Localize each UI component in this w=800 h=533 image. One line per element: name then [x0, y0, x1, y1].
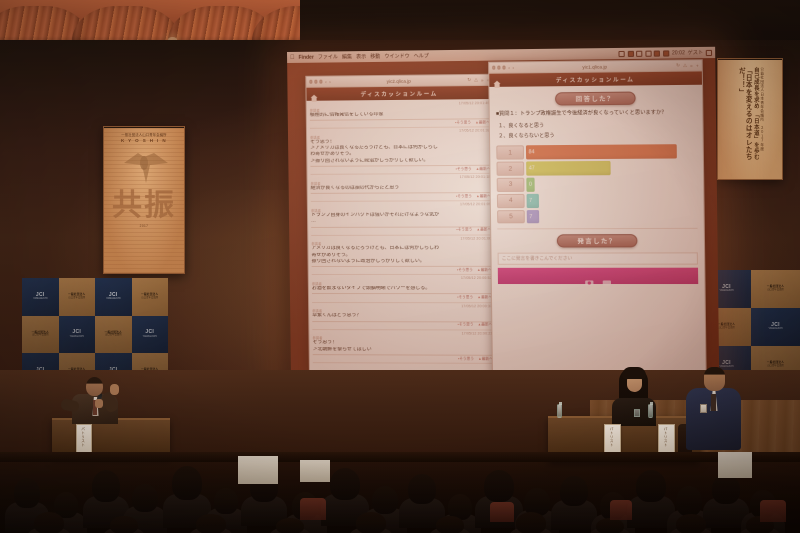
water-bottle — [557, 404, 562, 418]
audience-member-head — [408, 474, 436, 504]
audience-member-head — [712, 474, 740, 504]
menubar-item-go[interactable]: 移動 — [370, 53, 380, 60]
poll-bar-fill: 0 — [526, 178, 535, 192]
post-line: 経済が良くなるのは孭の代からだと思う — [311, 185, 491, 192]
tabs-icon[interactable]: » — [481, 77, 484, 82]
dropbox-icon[interactable] — [619, 50, 625, 56]
battery-icon[interactable] — [654, 50, 660, 56]
panelist-man-badge — [700, 404, 707, 413]
agree-button[interactable]: ▪そう思う — [457, 295, 473, 300]
poll-bar-row[interactable]: 247 — [496, 161, 696, 176]
audience-member-head — [92, 470, 120, 502]
projection-screen:  Finder ファイル 編集 表示 移動 ウインドウ ヘルプ 20:02 ゲ… — [287, 47, 719, 388]
browser-window-poll[interactable]: ‹› yic1.qlica.jp ↻ △ » + ディスカッションルーム — [488, 59, 707, 376]
poll-bar-track: 47 — [526, 161, 697, 176]
post-body: そう思う！＞アメリカは良くなるだろうけども、日本には何かしらしわ寄せがありそう。… — [310, 138, 490, 166]
eagle-emblem — [116, 149, 172, 189]
agree-button[interactable]: ▪そう思う — [455, 120, 471, 125]
post-body: 経済が良くなるのは孭の代からだと思う — [311, 185, 491, 194]
banner-left-top-line: 一般社団法人山口青年会議所 — [121, 132, 166, 137]
home-icon[interactable] — [309, 89, 318, 98]
audience-member-head — [330, 468, 360, 500]
agree-icon: ▪ — [456, 194, 457, 198]
discussion-post[interactable]: 17/05/12 20:00:21参講者そう思う！＞北朝鮮を黎らせてほしい▪そう… — [312, 331, 492, 364]
discussion-post[interactable]: 17/05/12 20:01:00参講者アメリカは良くなるだろうけども、日本には… — [311, 236, 491, 275]
post-actions: ▪そう思う▲最新へ — [311, 194, 491, 200]
poll-bar-label[interactable]: 5 — [497, 210, 525, 224]
poll-bar-track: 7 — [527, 209, 698, 223]
tabs-icon[interactable]: » — [690, 63, 693, 68]
latest-button[interactable]: ▲最新へ — [476, 194, 491, 199]
home-icon[interactable] — [492, 75, 501, 84]
banner-right: 公益社団法人日本青年会議所 ２０１７年度 自己成長を求め 「日本道」を歩む 「日… — [717, 58, 783, 180]
plus-icon[interactable]: + — [696, 63, 699, 68]
discussion-post-list[interactable]: 17/05/12 20:01:49参講者積極的に情報発信をしている印象▪そう思う… — [307, 99, 496, 364]
banner-left-foot: 2017 — [140, 224, 149, 228]
post-actions: ▪そう思う▲最新へ — [310, 166, 490, 172]
banner-right-col-2: 「日本を変えるのはオレたちだ！！」 — [736, 67, 750, 179]
banner-right-col-1: 自己成長を求め 「日本道」を歩む — [752, 67, 758, 179]
menubar-clock: 20:02 — [672, 50, 685, 56]
agree-button[interactable]: ▪そう思う — [458, 356, 474, 361]
agree-icon: ▪ — [458, 323, 459, 327]
post-timestamp: 17/05/12 20:00:52 — [312, 276, 492, 280]
discussion-post[interactable]: 17/05/12 20:01:32参講者そう思う！＞アメリカは良くなるだろうけど… — [310, 129, 491, 175]
poll-bar-row[interactable]: 184 — [496, 144, 696, 159]
post-actions: ▪そう思う▲最新へ — [310, 120, 490, 127]
audience-member-head — [356, 512, 386, 533]
audience-member-head — [276, 518, 304, 533]
poll-bar-track: 7 — [527, 193, 698, 207]
poll-bar-row[interactable]: 30 — [497, 177, 697, 192]
audience-member-head — [14, 478, 40, 508]
poll-option-1[interactable]: １、良くなると思う — [498, 121, 696, 130]
audience-handout — [718, 452, 752, 478]
maximize-icon — [502, 66, 505, 69]
poll-bar-label[interactable]: 2 — [496, 162, 524, 176]
audience-member-head — [132, 484, 158, 512]
latest-icon: ▲ — [476, 166, 480, 170]
post-body: アメリカは良くなるだろうけども、日本には何かしらしわ寄せがありそう。振り回されな… — [311, 246, 491, 267]
banner-rod — [103, 126, 185, 128]
audience-handout — [238, 456, 278, 484]
input-source-icon[interactable] — [663, 50, 669, 56]
banner-right-col-0: 公益社団法人日本青年会議所 ２０１７年度 — [760, 67, 764, 179]
answered-button[interactable]: 回答した？ — [555, 92, 636, 106]
poll-bar-label[interactable]: 4 — [497, 194, 525, 208]
latest-icon: ▲ — [476, 194, 480, 198]
poll-bar-fill: 7 — [527, 194, 540, 208]
room-header-left: ディスカッションルーム — [306, 86, 492, 101]
camera-icon[interactable] — [585, 273, 593, 280]
menubar-item-file[interactable]: ファイル — [318, 53, 338, 60]
wifi-icon[interactable] — [637, 50, 643, 56]
agree-icon: ▪ — [457, 268, 458, 272]
discussion-post[interactable]: 17/05/12 20:01:09参講者トランプ自身のインパクトは強いがそれだけ… — [311, 202, 491, 235]
agree-button[interactable]: ▪そう思う — [456, 228, 472, 233]
panelist-man-head — [704, 367, 725, 391]
post-author: 参講者 — [312, 281, 492, 286]
poll-bar-label[interactable]: 3 — [497, 178, 525, 192]
keyboard-icon[interactable] — [602, 273, 610, 280]
poll-bar-fill: 47 — [526, 161, 610, 175]
audience-member-head — [560, 476, 588, 506]
address-bar[interactable]: yic1.qlica.jp — [517, 63, 673, 70]
poll-bar-track: 0 — [526, 177, 697, 192]
audience-member-head — [596, 518, 624, 533]
audience-member-head — [636, 470, 666, 502]
back-icon: ‹ — [508, 65, 510, 70]
auditorium-seat — [760, 500, 786, 522]
audience-member-head — [516, 512, 546, 533]
latest-button[interactable]: ▲最新へ — [478, 323, 493, 328]
audience-handout — [300, 460, 330, 482]
auditorium-seat — [300, 498, 326, 520]
post-actions: ▪そう思う▲最新へ — [312, 322, 492, 327]
post-body: お酒を飲まないタイプで頭脳明晰でパワーを感じる。 — [312, 286, 492, 294]
menubar-item-view[interactable]: 表示 — [356, 53, 366, 60]
post-body: トランプ自身のインパクトは強いがそれだけなような気が… — [311, 212, 491, 227]
reload-icon[interactable]: ↻ — [467, 77, 471, 83]
auditorium-seat — [610, 500, 632, 520]
drinking-glass — [634, 409, 640, 417]
audience-member-head — [172, 466, 202, 500]
post-actions: ▪そう思う▲最新へ — [312, 295, 492, 300]
audience-member-head — [214, 488, 238, 514]
post-line: 振り回されないように政治がしっかりして欲しい。 — [312, 259, 492, 266]
latest-icon: ▲ — [476, 228, 480, 232]
room-title-right: ディスカッションルーム — [556, 75, 635, 84]
latest-button[interactable]: ▲最新へ — [477, 268, 492, 273]
latest-icon: ▲ — [477, 295, 481, 299]
mobile-toolbar[interactable] — [498, 268, 698, 284]
airplay-icon[interactable] — [645, 50, 651, 56]
moderator-hand-left — [95, 399, 103, 408]
poll-bar-row[interactable]: 47 — [497, 193, 697, 208]
search-icon[interactable] — [706, 49, 712, 55]
banner-left-headline: K Y O S H I N — [121, 138, 167, 143]
discussion-post[interactable]: 17/05/12 20:00:37参講者草繁くんはどう思う？▪そう思う▲最新へ — [312, 304, 492, 331]
scene-root: 一般社団法人山口青年会議所 K Y O S H I N 共振 2017 公益社団… — [0, 0, 800, 533]
latest-button[interactable]: ▲最新へ — [478, 356, 493, 361]
poll-panel: 回答した？ ■質問１：トランプ政権誕生で今後経済が良くなっていくと思いますか？ … — [489, 85, 704, 290]
nav-buttons[interactable]: ‹› — [325, 79, 331, 84]
audience-member-head — [196, 514, 226, 533]
room-title-left: ディスカッションルーム — [361, 89, 438, 98]
panelist-man-tie — [711, 394, 716, 411]
agree-button[interactable]: ▪そう思う — [457, 268, 473, 273]
close-icon — [492, 66, 495, 69]
latest-icon: ▲ — [477, 268, 481, 272]
speak-button[interactable]: 発言した？ — [557, 235, 638, 248]
menubar-item-help[interactable]: ヘルプ — [414, 52, 429, 59]
menubar-app-name[interactable]: Finder — [299, 54, 314, 60]
forward-icon: › — [512, 65, 514, 70]
moderator-head — [86, 377, 103, 396]
post-actions: ▪そう思う▲最新へ — [312, 268, 492, 273]
window-controls[interactable] — [492, 66, 505, 69]
forward-icon: › — [329, 79, 331, 84]
share-icon[interactable]: △ — [474, 77, 478, 83]
agree-button[interactable]: ▪そう思う — [458, 323, 474, 328]
speak-section: 発言した？ ここに発言を書きこんでください — [497, 228, 698, 284]
audience-member-head — [676, 514, 706, 533]
latest-icon: ▲ — [478, 356, 482, 360]
latest-icon: ▲ — [478, 323, 482, 327]
post-body: 草繁くんはどう思う？ — [312, 313, 492, 322]
audience-member-head — [484, 470, 514, 502]
post-body: そう思う！＞北朝鮮を黎らせてほしい — [313, 341, 493, 356]
apple-menu-icon[interactable]:  — [290, 54, 295, 60]
menubar-item-window[interactable]: ウインドウ — [384, 53, 409, 60]
post-line: ＞振り回されないように政治がしっかりして欲しい。 — [310, 157, 490, 164]
latest-button[interactable]: ▲最新へ — [476, 166, 491, 171]
post-line: お酒を飲まないタイプで頭脳明晰でパワーを感じる。 — [312, 286, 492, 292]
share-icon[interactable]: △ — [683, 62, 687, 68]
minimize-icon — [497, 66, 500, 69]
agree-icon: ▪ — [456, 228, 457, 232]
latest-button[interactable]: ▲最新へ — [475, 120, 490, 125]
menubar-user[interactable]: ゲスト — [687, 49, 703, 56]
poll-question: ■質問１：トランプ政権誕生で今後経済が良くなっていくと思いますか？ — [496, 109, 696, 118]
agree-icon: ▪ — [458, 356, 459, 360]
water-bottle — [648, 404, 653, 418]
menubar-item-edit[interactable]: 編集 — [342, 53, 352, 60]
discussion-post[interactable]: 17/05/12 20:01:49参講者積極的に情報発信をしている印象▪そう思う… — [310, 101, 490, 129]
nav-buttons[interactable]: ‹› — [508, 65, 514, 70]
reload-icon[interactable]: ↻ — [676, 63, 680, 69]
discussion-post[interactable]: 17/05/12 20:01:18参講者経済が良くなるのは孭の代からだと思う▪そ… — [311, 175, 491, 202]
namecard: パトリスト — [76, 424, 92, 454]
agree-icon: ▪ — [457, 295, 458, 299]
post-line: ＞北朝鮮を黎らせてほしい — [313, 347, 493, 354]
banner-rod — [717, 58, 783, 60]
discussion-post[interactable]: 17/05/12 20:00:52参講者お酒を飲まないタイプで頭脳明晰でパワーを… — [312, 276, 492, 302]
window-controls[interactable] — [309, 80, 322, 83]
post-line: … — [311, 219, 491, 226]
auditorium-seat — [490, 502, 514, 522]
latest-button[interactable]: ▲最新へ — [476, 228, 491, 233]
latest-icon: ▲ — [475, 120, 479, 124]
audience-member-head — [34, 512, 64, 533]
agree-icon: ▪ — [456, 167, 457, 171]
banner-left: 一般社団法人山口青年会議所 K Y O S H I N 共振 2017 — [103, 126, 185, 274]
poll-bar-fill: 7 — [527, 210, 540, 224]
post-line: 草繁くんはどう思う？ — [312, 313, 492, 320]
browser-window-discussion[interactable]: ‹› yic2.qlica.jp ↻ △ » + ディスカッションルーム — [305, 74, 497, 374]
agree-icon: ▪ — [455, 120, 456, 124]
moderator-hand-right — [110, 384, 119, 395]
address-bar[interactable]: yic2.qlica.jp — [334, 78, 465, 84]
maximize-icon — [319, 80, 322, 83]
audience-member-head — [436, 516, 464, 533]
latest-button[interactable]: ▲最新へ — [477, 295, 492, 300]
speak-input[interactable]: ここに発言を書きこんでください — [498, 253, 698, 265]
audience-member-head — [372, 486, 398, 514]
panelist-woman-hair-front — [622, 367, 646, 379]
close-icon — [309, 80, 312, 83]
poll-option-2[interactable]: ２、良くならないと思う — [498, 131, 696, 140]
minimize-icon — [314, 80, 317, 83]
room-header-right: ディスカッションルーム — [489, 71, 702, 86]
audience-member-head — [110, 516, 138, 533]
agree-button[interactable]: ▪そう思う — [456, 166, 472, 171]
poll-bar-track: 84 — [526, 144, 697, 159]
back-icon: ‹ — [325, 79, 327, 84]
display-icon[interactable] — [628, 50, 634, 56]
post-actions: ▪そう思う▲最新へ — [311, 228, 491, 234]
post-actions: ▪そう思う▲最新へ — [313, 356, 493, 362]
poll-bar-label[interactable]: 1 — [496, 146, 524, 160]
poll-bar-fill: 84 — [526, 145, 677, 160]
poll-results-chart: 184247304757 — [496, 144, 697, 223]
agree-button[interactable]: ▪そう思う — [456, 194, 472, 199]
post-line: 積極的に情報発信をしている印象 — [310, 111, 490, 119]
poll-bar-row[interactable]: 57 — [497, 209, 697, 223]
audience-member-head — [676, 486, 702, 516]
banner-left-big-text: 共振 — [112, 191, 176, 221]
